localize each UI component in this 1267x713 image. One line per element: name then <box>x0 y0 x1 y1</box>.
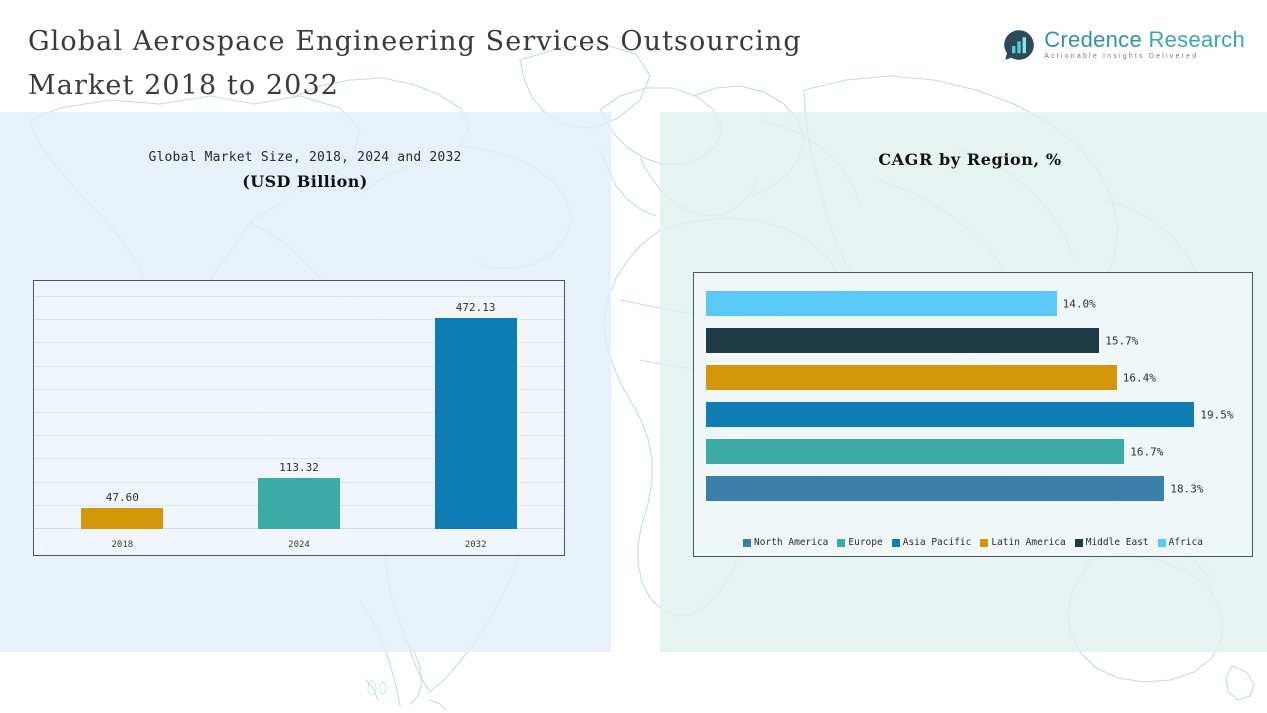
right-chart-title: CAGR by Region, % <box>700 150 1240 169</box>
legend-label: Latin America <box>991 537 1065 548</box>
bar-row: 14.0% <box>706 291 1240 316</box>
legend-swatch <box>743 539 751 547</box>
bar <box>706 328 1099 353</box>
infographic-page: Global Aerospace Engineering Services Ou… <box>0 0 1267 713</box>
category-label: 2032 <box>465 540 487 550</box>
bar <box>706 291 1057 316</box>
legend-item[interactable]: North America <box>743 537 828 548</box>
legend-label: Europe <box>848 537 882 548</box>
logo-name-primary: Credence <box>1044 27 1142 52</box>
brand-logo: Credence Research Actionable Insights De… <box>1002 22 1245 68</box>
page-title: Global Aerospace Engineering Services Ou… <box>28 20 988 108</box>
legend-swatch <box>1158 539 1166 547</box>
bar-value-label: 47.60 <box>106 491 139 504</box>
bar-row: 15.7% <box>706 328 1240 353</box>
logo-name: Credence Research <box>1044 28 1245 52</box>
bar-column: 47.602018 <box>81 508 163 529</box>
left-chart-title-line1: Global Market Size, 2018, 2024 and 2032 <box>30 150 580 165</box>
legend-label: North America <box>754 537 828 548</box>
legend-item[interactable]: Middle East <box>1075 537 1149 548</box>
bar-value-label: 16.4% <box>1123 371 1156 384</box>
legend-item[interactable]: Asia Pacific <box>892 537 972 548</box>
bar <box>706 476 1164 501</box>
legend-swatch <box>837 539 845 547</box>
bar-column: 472.132032 <box>435 318 517 529</box>
bar-value-label: 472.13 <box>456 301 496 314</box>
bar-value-label: 18.3% <box>1170 482 1203 495</box>
legend-item[interactable]: Europe <box>837 537 882 548</box>
legend-swatch <box>980 539 988 547</box>
legend-item[interactable]: Latin America <box>980 537 1065 548</box>
category-label: 2018 <box>111 540 133 550</box>
bar-row: 16.4% <box>706 365 1240 390</box>
bar <box>258 478 340 529</box>
legend-label: Africa <box>1169 537 1203 548</box>
bar-value-label: 16.7% <box>1130 445 1163 458</box>
left-chart-heading: Global Market Size, 2018, 2024 and 2032 … <box>30 150 580 191</box>
right-chart-heading: CAGR by Region, % <box>700 150 1240 169</box>
bar-row: 19.5% <box>706 402 1240 427</box>
bar-column: 113.322024 <box>258 478 340 529</box>
logo-name-secondary: Research <box>1148 27 1245 52</box>
legend-item[interactable]: Africa <box>1158 537 1203 548</box>
chart-legend: North AmericaEuropeAsia PacificLatin Ame… <box>694 537 1252 548</box>
legend-swatch <box>1075 539 1083 547</box>
bar-row: 18.3% <box>706 476 1240 501</box>
cagr-by-region-bar-chart: 14.0%15.7%16.4%19.5%16.7%18.3% North Ame… <box>693 272 1253 557</box>
bar <box>706 365 1117 390</box>
logo-text: Credence Research Actionable Insights De… <box>1044 28 1245 62</box>
bar-value-label: 113.32 <box>279 461 319 474</box>
bar <box>706 439 1124 464</box>
bar <box>435 318 517 529</box>
bar <box>706 402 1194 427</box>
bar-value-label: 19.5% <box>1200 408 1233 421</box>
category-label: 2024 <box>288 540 310 550</box>
bar <box>81 508 163 529</box>
horizontal-bar-plot-area: 14.0%15.7%16.4%19.5%16.7%18.3% <box>694 273 1252 556</box>
header: Global Aerospace Engineering Services Ou… <box>0 0 1267 112</box>
bar-value-label: 15.7% <box>1105 334 1138 347</box>
legend-label: Middle East <box>1086 537 1149 548</box>
legend-swatch <box>892 539 900 547</box>
market-size-bar-chart: 47.602018113.322024472.132032 <box>33 280 565 556</box>
logo-tagline: Actionable Insights Delivered <box>1044 52 1245 62</box>
bar-chart-bubble-icon <box>1002 28 1036 62</box>
legend-label: Asia Pacific <box>903 537 972 548</box>
left-chart-title-line2: (USD Billion) <box>30 172 580 191</box>
bar-value-label: 14.0% <box>1063 297 1096 310</box>
vertical-bar-plot-area: 47.602018113.322024472.132032 <box>34 281 564 555</box>
bar-row: 16.7% <box>706 439 1240 464</box>
